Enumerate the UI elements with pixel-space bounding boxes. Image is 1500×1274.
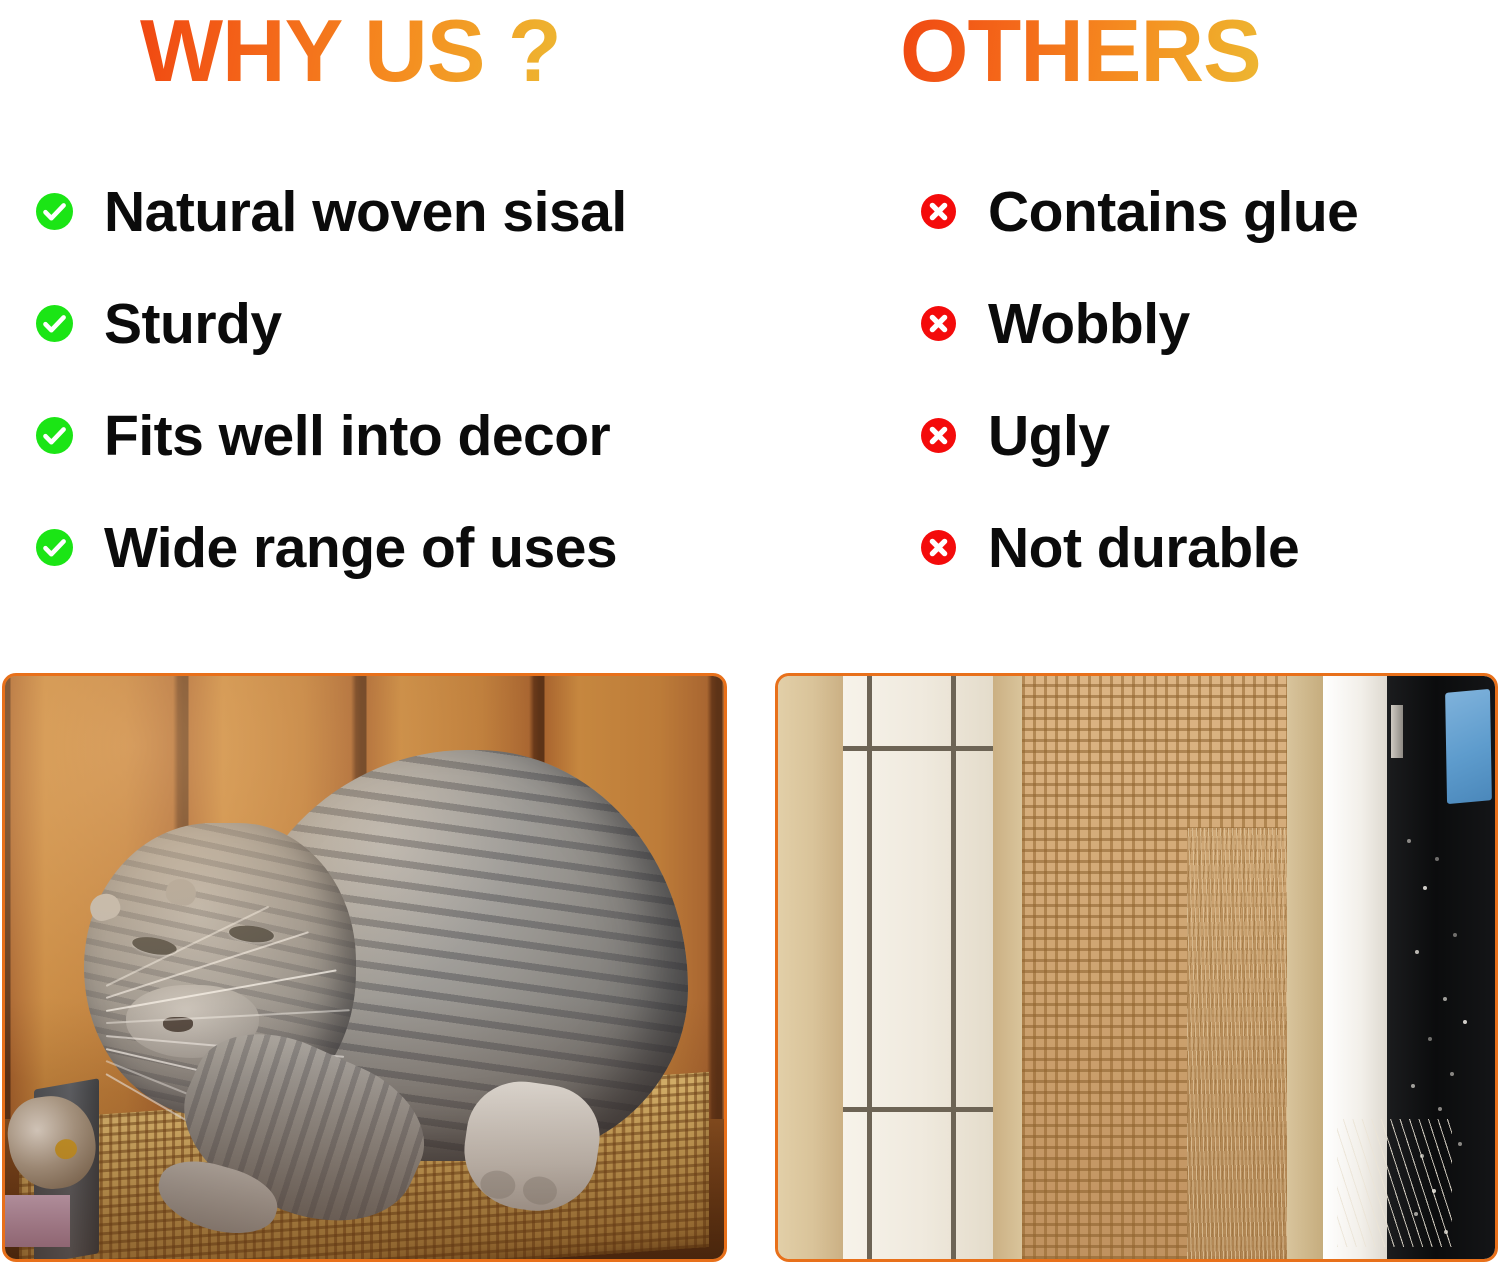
cross-circle-icon: [921, 306, 956, 341]
wood-jamb-left: [778, 676, 843, 1259]
comparison-infographic: WHY US ? OTHERS Natural woven sisal Stur…: [0, 0, 1500, 1274]
list-item-label: Contains glue: [988, 178, 1358, 246]
blue-sticky-note: [1445, 688, 1492, 803]
list-item-label: Wide range of uses: [104, 514, 617, 582]
list-item: Natural woven sisal: [36, 178, 736, 290]
list-item-label: Ugly: [988, 402, 1110, 470]
mullion-horizontal: [843, 1107, 994, 1112]
list-item-label: Not durable: [988, 514, 1299, 582]
mullion-horizontal: [843, 746, 994, 751]
mullion-vertical: [867, 676, 872, 1259]
heading-others: OTHERS: [900, 0, 1261, 106]
cross-circle-icon: [921, 418, 956, 453]
list-item: Wide range of uses: [36, 514, 736, 626]
pros-list: Natural woven sisal Sturdy Fits well int…: [36, 178, 736, 626]
list-item-label: Fits well into decor: [104, 402, 610, 470]
heading-why-us: WHY US ?: [140, 0, 561, 106]
check-circle-icon: [36, 193, 73, 230]
cons-list: Contains glue Wobbly Ugly: [920, 178, 1460, 626]
headings-row: WHY US ? OTHERS: [0, 0, 1500, 110]
list-item: Contains glue: [920, 178, 1460, 290]
glass-panel: [843, 676, 994, 1259]
photo-shading: [5, 676, 724, 1259]
cross-circle-icon: [921, 194, 956, 229]
check-circle-icon: [36, 529, 73, 566]
list-item: Wobbly: [920, 290, 1460, 402]
check-circle-icon: [36, 417, 73, 454]
photo-cat-on-sisal-mat: [2, 673, 727, 1262]
mullion-vertical: [951, 676, 956, 1259]
list-item-label: Natural woven sisal: [104, 178, 627, 246]
sisal-edge: [993, 676, 1022, 1259]
photo-frayed-sisal-door: [775, 673, 1498, 1262]
loose-fibers: [1337, 1119, 1452, 1247]
list-item: Sturdy: [36, 290, 736, 402]
list-item: Not durable: [920, 514, 1460, 626]
wood-strip: [1287, 676, 1323, 1259]
list-item: Ugly: [920, 402, 1460, 514]
list-item-label: Wobbly: [988, 290, 1190, 358]
cross-circle-icon: [921, 530, 956, 565]
door-hinge: [1391, 705, 1402, 757]
list-item: Fits well into decor: [36, 402, 736, 514]
list-item-label: Sturdy: [104, 290, 282, 358]
check-circle-icon: [36, 305, 73, 342]
